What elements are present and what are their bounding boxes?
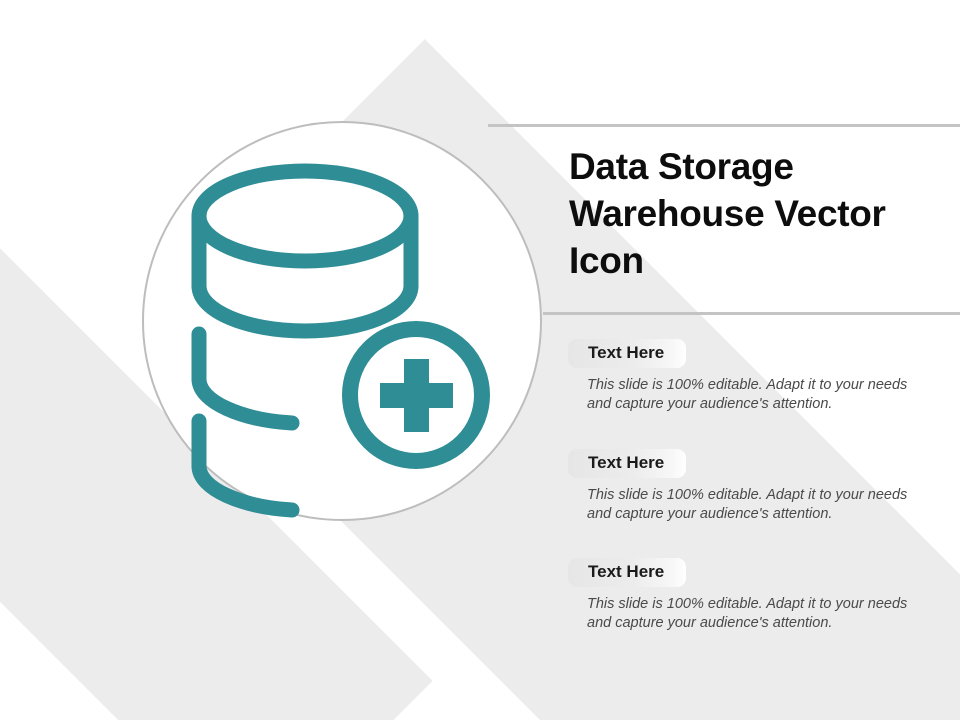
content-block-2: Text Here This slide is 100% editable. A…: [568, 449, 958, 524]
block-1-heading[interactable]: Text Here: [568, 339, 686, 368]
divider-middle: [543, 312, 960, 315]
page-title: Data Storage Warehouse Vector Icon: [569, 143, 949, 284]
block-3-body: This slide is 100% editable. Adapt it to…: [568, 595, 917, 633]
slide-canvas: Data Storage Warehouse Vector Icon Text …: [0, 0, 960, 720]
block-2-heading[interactable]: Text Here: [568, 449, 686, 478]
divider-top: [488, 124, 960, 127]
block-2-body: This slide is 100% editable. Adapt it to…: [568, 486, 917, 524]
block-1-body: This slide is 100% editable. Adapt it to…: [568, 376, 917, 414]
database-add-icon: [142, 121, 542, 521]
plus-glyph: [380, 359, 453, 432]
content-block-3: Text Here This slide is 100% editable. A…: [568, 558, 958, 633]
content-block-1: Text Here This slide is 100% editable. A…: [568, 339, 958, 414]
block-3-heading[interactable]: Text Here: [568, 558, 686, 587]
